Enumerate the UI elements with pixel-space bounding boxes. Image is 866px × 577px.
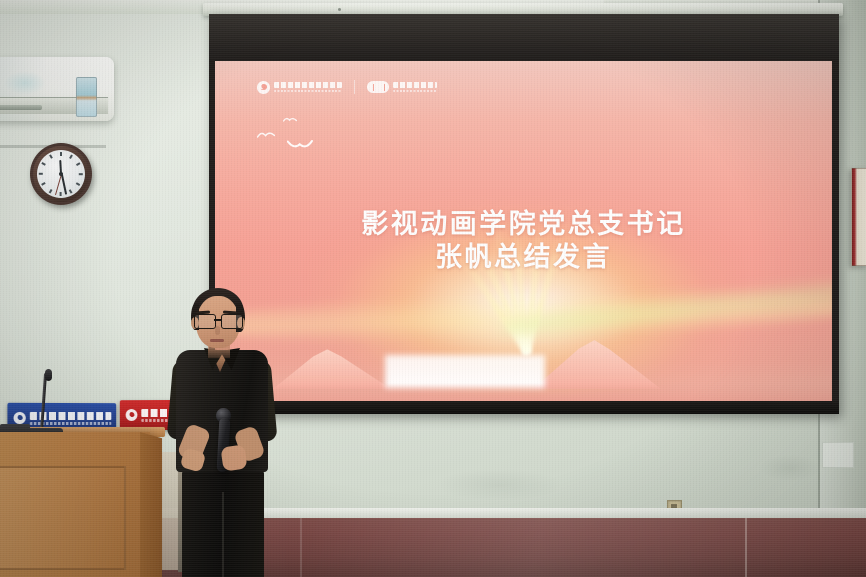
screen-bottom-weight-bar bbox=[209, 401, 839, 414]
slide-title: 影视动画学院党总支书记 张帆总结发言 bbox=[215, 209, 832, 275]
logo-wordmark bbox=[393, 82, 437, 92]
person-right-hand bbox=[220, 444, 247, 471]
logo-english-name bbox=[274, 90, 342, 93]
eyeglasses-left-lens bbox=[194, 314, 216, 329]
floor-seam bbox=[300, 518, 302, 577]
bird-icon bbox=[287, 138, 313, 151]
wall-scuff-secondary bbox=[440, 470, 560, 500]
screen-top-mask bbox=[209, 14, 839, 61]
clock-hour-marker bbox=[79, 173, 83, 175]
college-logo-primary bbox=[257, 81, 342, 94]
bird-icon bbox=[283, 116, 297, 124]
person-nose bbox=[215, 326, 220, 335]
clock-hour-marker bbox=[49, 189, 52, 193]
speaker-person bbox=[160, 286, 290, 577]
person-leg-separation bbox=[222, 492, 224, 577]
logo-english-name bbox=[393, 90, 437, 93]
presentation-slide: 影视动画学院党总支书记 张帆总结发言 bbox=[215, 61, 832, 401]
slide-title-line-2: 张帆总结发言 bbox=[215, 242, 832, 275]
gooseneck-microphone-capsule bbox=[45, 369, 52, 381]
person-mouth bbox=[210, 339, 224, 342]
clock-hour-marker bbox=[60, 152, 62, 156]
ac-conduit-pipe bbox=[0, 105, 42, 110]
placard-emblem-icon bbox=[126, 409, 138, 421]
logo-chinese-name bbox=[393, 82, 437, 88]
wall-air-conditioner bbox=[0, 57, 114, 121]
slide-logo-row bbox=[257, 80, 437, 94]
podium-front-panel bbox=[0, 466, 126, 570]
clock-hour-marker bbox=[49, 155, 52, 159]
clock-hour-marker bbox=[69, 155, 72, 159]
eyeglasses-right-lens bbox=[221, 314, 243, 329]
lecture-hall-scene: 影视动画学院党总支书记 张帆总结发言 bbox=[0, 0, 866, 577]
bird-icon bbox=[257, 130, 275, 140]
logo-divider bbox=[354, 80, 355, 94]
wall-clock bbox=[30, 143, 92, 205]
wall-mounted-frame bbox=[851, 168, 866, 266]
ac-display-panel bbox=[76, 77, 97, 117]
slide-birds-decoration bbox=[257, 116, 367, 162]
clock-hour-marker bbox=[42, 182, 46, 185]
clock-hour-marker bbox=[39, 173, 43, 175]
eyeglasses-bridge bbox=[214, 319, 221, 321]
slide-bottom-fade bbox=[215, 383, 832, 401]
placard-emblem-icon bbox=[14, 412, 26, 424]
ac-surface-mark bbox=[4, 71, 46, 95]
wall-notice-sheet bbox=[822, 442, 854, 468]
wall-scuff bbox=[760, 455, 820, 481]
housing-screw bbox=[338, 8, 341, 11]
college-logo-secondary bbox=[367, 81, 437, 93]
clock-hour-marker bbox=[60, 192, 62, 196]
swirl-circle-mark-icon bbox=[257, 81, 270, 94]
podium-side-face bbox=[140, 432, 162, 577]
screen-right-border bbox=[832, 61, 839, 401]
clock-hour-marker bbox=[76, 182, 80, 185]
clock-hour-marker bbox=[76, 162, 80, 165]
oval-pillar-mark-icon bbox=[367, 81, 389, 93]
floor-seam bbox=[745, 518, 747, 577]
logo-wordmark bbox=[274, 82, 342, 92]
logo-chinese-name bbox=[274, 82, 342, 88]
slide-title-line-1: 影视动画学院党总支书记 bbox=[215, 209, 832, 242]
projection-screen: 影视动画学院党总支书记 张帆总结发言 bbox=[209, 14, 839, 414]
clock-hour-marker bbox=[42, 162, 46, 165]
clock-hour-marker bbox=[69, 189, 72, 193]
clock-center-pin bbox=[59, 172, 63, 176]
